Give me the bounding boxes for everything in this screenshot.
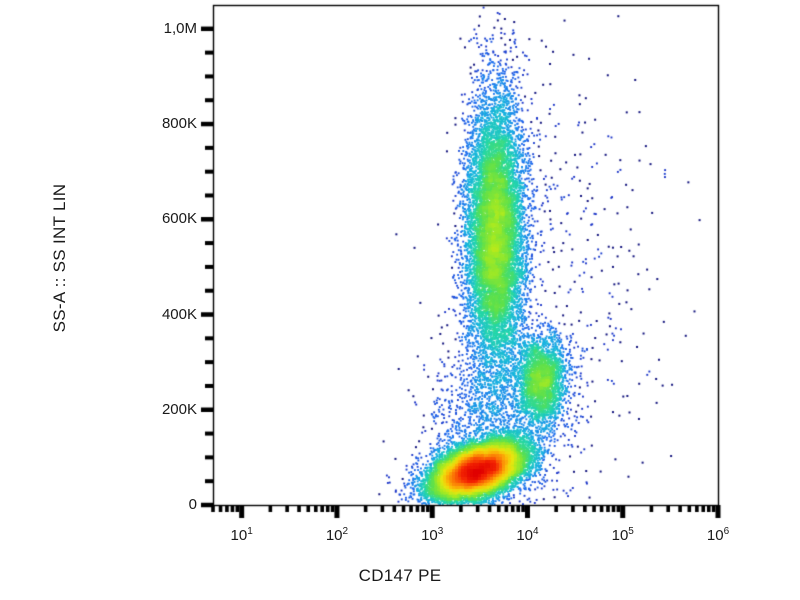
x-tick-label: 105 <box>593 527 653 544</box>
x-tick-label: 102 <box>307 527 367 544</box>
x-tick-label: 101 <box>212 527 272 544</box>
y-tick-label: 600K <box>127 210 197 227</box>
x-tick-label: 103 <box>402 527 462 544</box>
x-tick-label: 106 <box>688 527 748 544</box>
y-tick-label: 400K <box>127 306 197 323</box>
scatter-plot-canvas <box>0 0 800 600</box>
y-tick-label: 1,0M <box>127 20 197 37</box>
x-tick-label: 104 <box>497 527 557 544</box>
y-tick-label: 800K <box>127 115 197 132</box>
y-tick-label: 0 <box>127 496 197 513</box>
flow-cytometry-figure: CD147 PE SS-A :: SS INT LIN 0200K400K600… <box>0 0 800 600</box>
x-axis-label: CD147 PE <box>0 566 800 586</box>
y-axis-label: SS-A :: SS INT LIN <box>50 68 70 448</box>
y-tick-label: 200K <box>127 401 197 418</box>
